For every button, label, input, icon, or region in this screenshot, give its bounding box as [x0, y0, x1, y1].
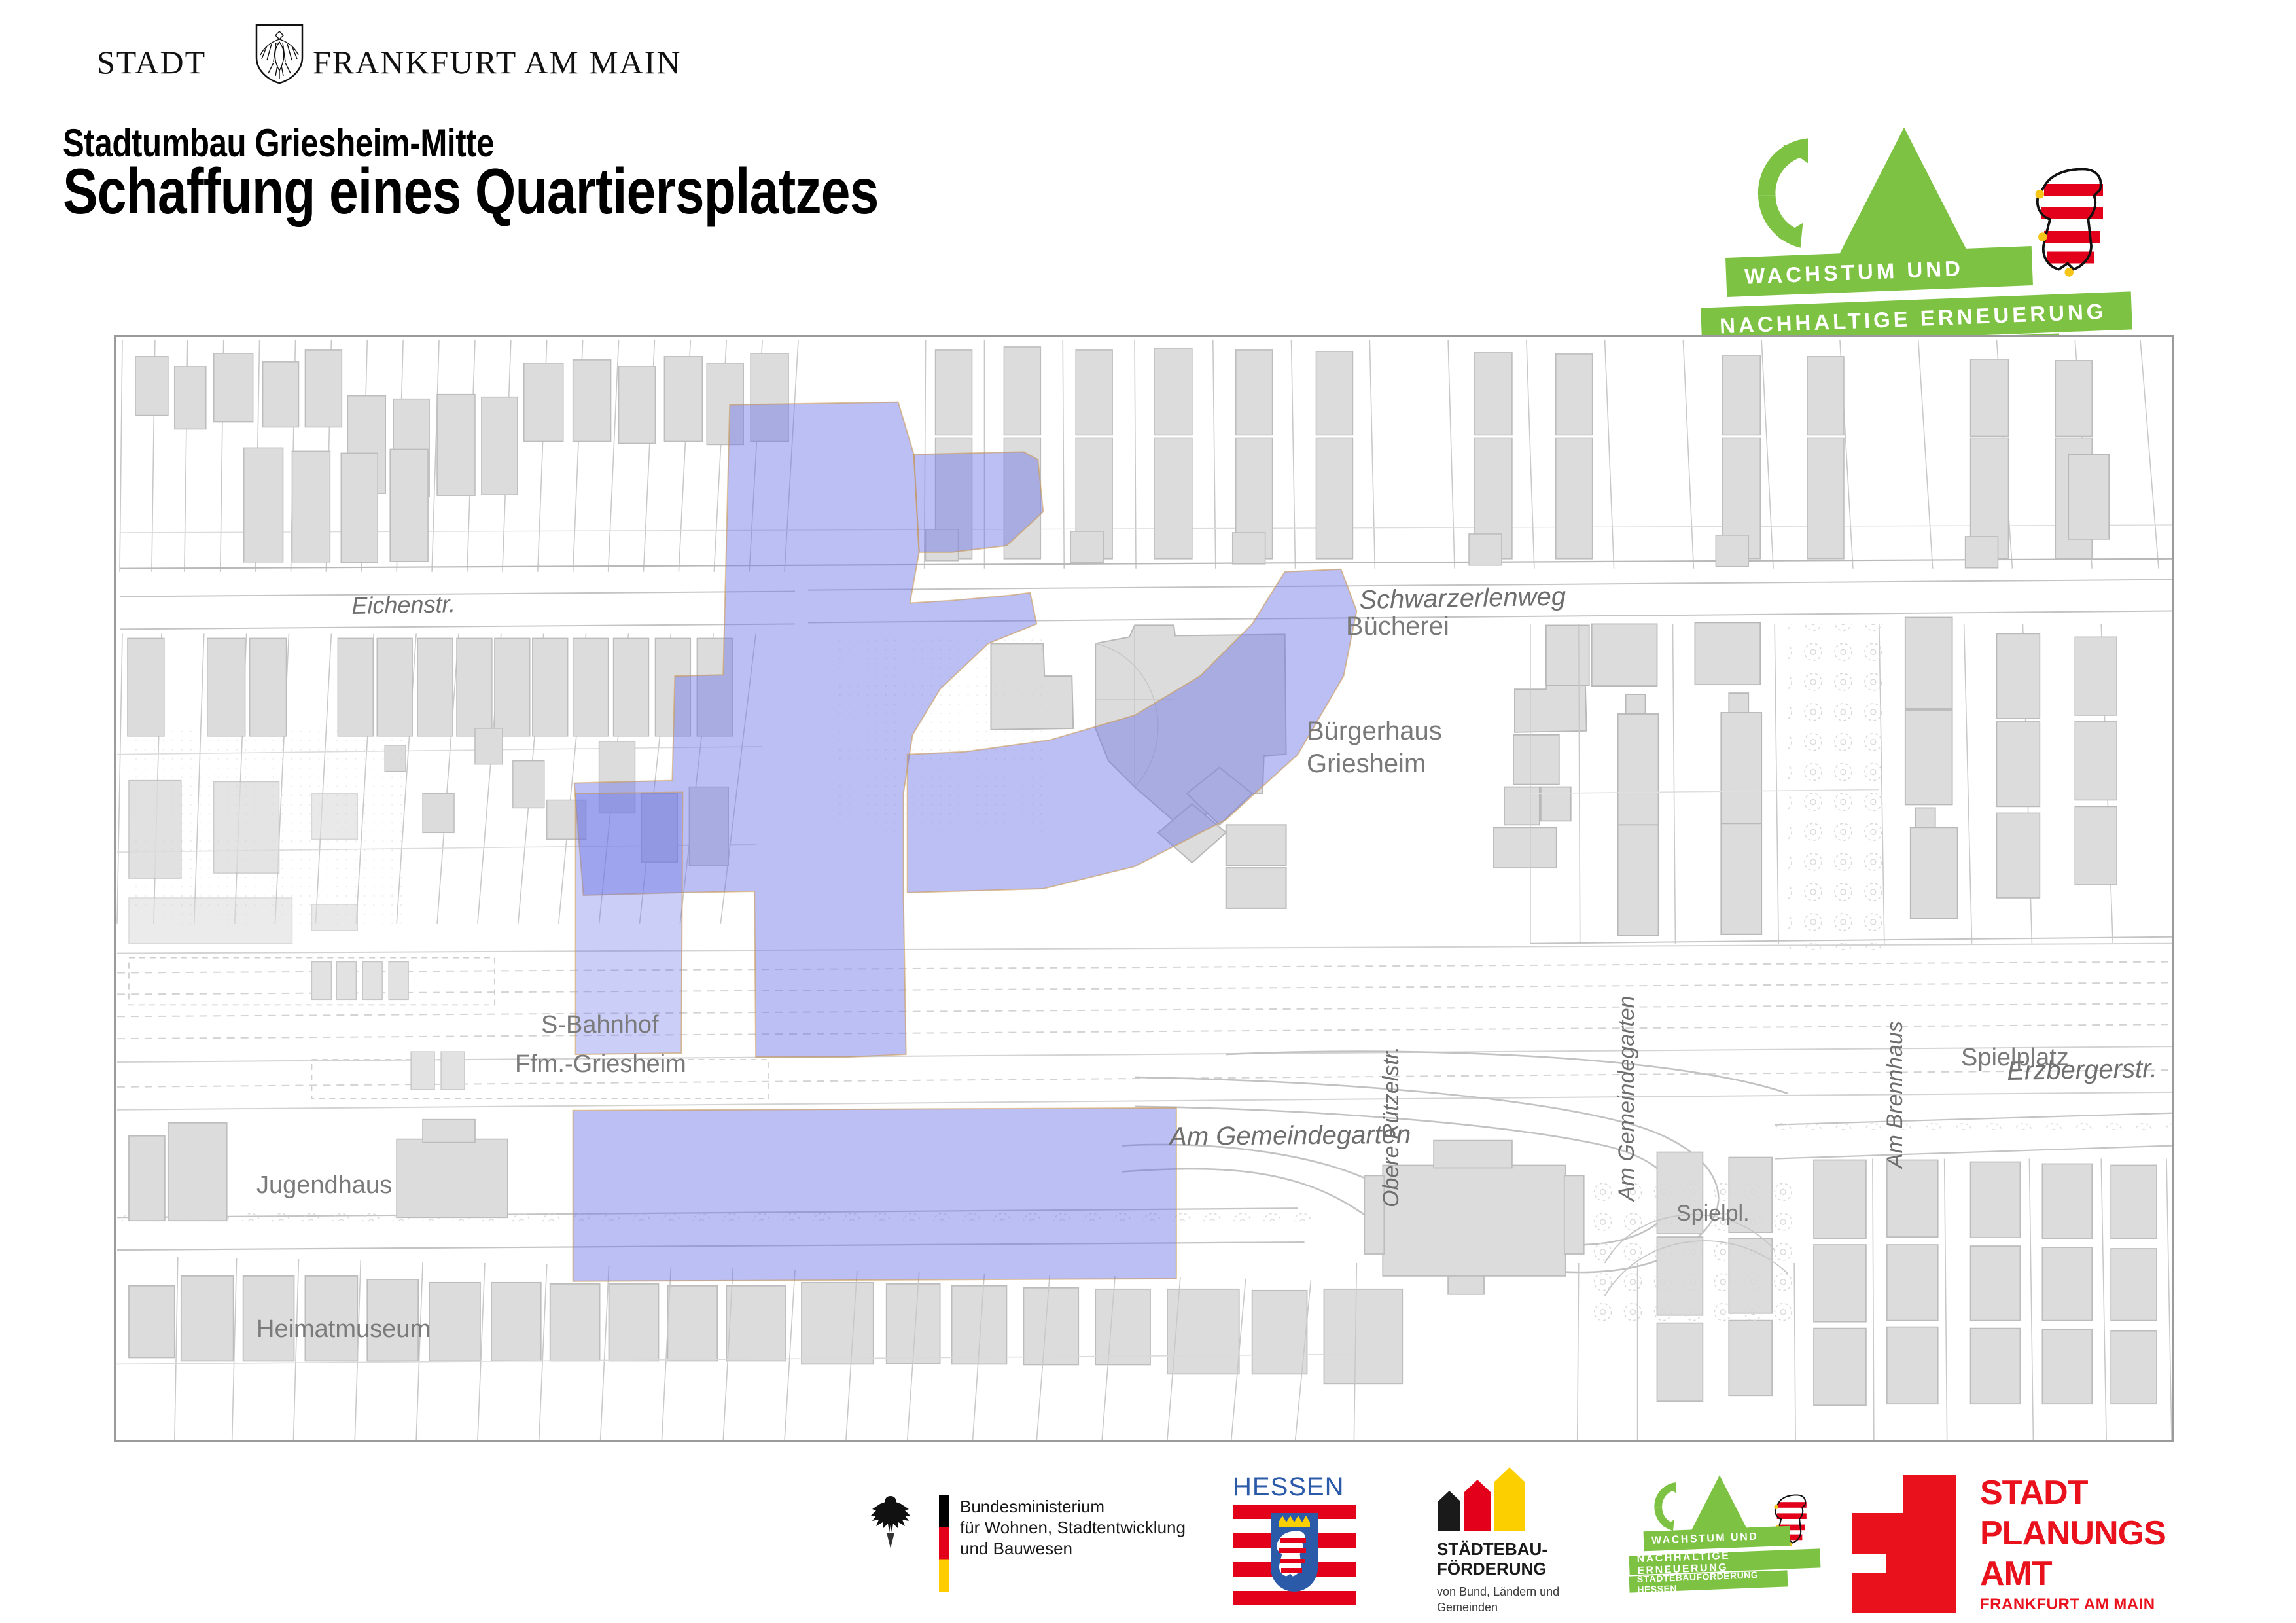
stadtplanungsamt-line-1: STADT — [1980, 1472, 2166, 1513]
frankfurt-eagle-crest-icon — [254, 22, 305, 85]
cadastral-map[interactable]: Eichenstr.SchwarzerlenwegAm Gemeindegart… — [114, 335, 2174, 1442]
hessen-lion-icon — [2022, 160, 2113, 278]
bmwsb-line-3: und Bauwesen — [960, 1538, 1186, 1559]
street-label: Am Gemeindegarten — [1169, 1120, 1411, 1152]
poi-label: Bücherei — [1346, 612, 1449, 641]
staedtebau-title-line-1: STÄDTEBAU- — [1437, 1539, 1547, 1559]
poi-label: Heimatmuseum — [256, 1315, 431, 1344]
map-drawing — [116, 337, 2172, 1440]
street-label: Obere Rützelstr. — [1379, 1046, 1404, 1207]
street-label: Am Gemeindegarten — [1614, 995, 1640, 1201]
staedtebau-sub-line-1: von Bund, Ländern und — [1437, 1584, 1559, 1599]
house-red-icon — [1464, 1492, 1491, 1531]
stadtplanungsamt-wordmark: STADT PLANUNGS AMT — [1980, 1472, 2166, 1594]
staedtebau-subtitle: von Bund, Ländern und Gemeinden — [1437, 1584, 1559, 1615]
staedtebau-title-line-2: FÖRDERUNG — [1437, 1559, 1547, 1578]
germany-flag-bar-icon — [939, 1495, 949, 1592]
poi-label: Griesheim — [1307, 749, 1426, 779]
poi-label: Bürgerhaus — [1307, 717, 1442, 746]
wachstum-erneuerung-logo-small: WACHSTUM UND NACHHALTIGE ERNEUERUNG STÄD… — [1629, 1466, 1878, 1623]
poi-label: S-Bahnhof — [541, 1011, 659, 1039]
city-logo: STADT FRANKFURT AM MAIN — [97, 31, 516, 84]
poi-label: Spielplatz — [1961, 1044, 2069, 1072]
staedtebaufoerderung-logo: STÄDTEBAU- FÖRDERUNG von Bund, Ländern u… — [1426, 1466, 1597, 1623]
hessen-logo: HESSEN — [1230, 1466, 1361, 1623]
hessen-wordmark: HESSEN — [1233, 1472, 1345, 1502]
page-footer: Bundesministerium für Wohnen, Stadtentwi… — [0, 1466, 2296, 1623]
poi-label: Jugendhaus — [256, 1171, 392, 1200]
house-yellow-icon — [1494, 1482, 1525, 1531]
bmwsb-line-1: Bundesministerium — [960, 1496, 1186, 1517]
page-title: Schaffung eines Quartiersplatzes — [63, 154, 879, 228]
house-black-icon — [1438, 1501, 1460, 1531]
street-label: Am Brennhaus — [1882, 1021, 1908, 1168]
stadtplanungsamt-line-3: AMT — [1980, 1554, 2166, 1594]
street-label: Eichenstr. — [351, 590, 455, 620]
city-logo-word-stadt: STADT — [97, 43, 206, 81]
bundesadler-icon — [867, 1492, 914, 1551]
bmwsb-logo: Bundesministerium für Wohnen, Stadtentwi… — [867, 1466, 1194, 1623]
poi-label: Ffm.-Griesheim — [515, 1050, 686, 1079]
stadtplanungsamt-line-2: PLANUNGS — [1980, 1513, 2166, 1554]
hessen-shield-icon — [1271, 1513, 1318, 1592]
city-logo-word-frankfurt: FRANKFURT AM MAIN — [313, 43, 682, 81]
bmwsb-text: Bundesministerium für Wohnen, Stadtentwi… — [960, 1496, 1186, 1559]
poi-label: Spielpl. — [1676, 1201, 1750, 1226]
bmwsb-line-2: für Wohnen, Stadtentwicklung — [960, 1517, 1186, 1538]
page-header: STADT FRANKFURT AM MAIN Stadtumbau Gries… — [0, 0, 2296, 327]
stadtplanungsamt-logo: STADT PLANUNGS AMT FRANKFURT AM MAIN — [1852, 1466, 2192, 1623]
stadtplanungsamt-subline: FRANKFURT AM MAIN — [1980, 1596, 2155, 1614]
staedtebau-sub-line-2: Gemeinden — [1437, 1599, 1559, 1615]
street-label: Schwarzerlenweg — [1359, 582, 1566, 615]
stadtplanungsamt-mark-icon — [1852, 1475, 1956, 1613]
wachstum-small-band-3: STÄDTEBAUFÖRDERUNG HESSEN — [1629, 1570, 1788, 1592]
staedtebau-title: STÄDTEBAU- FÖRDERUNG — [1437, 1539, 1547, 1578]
